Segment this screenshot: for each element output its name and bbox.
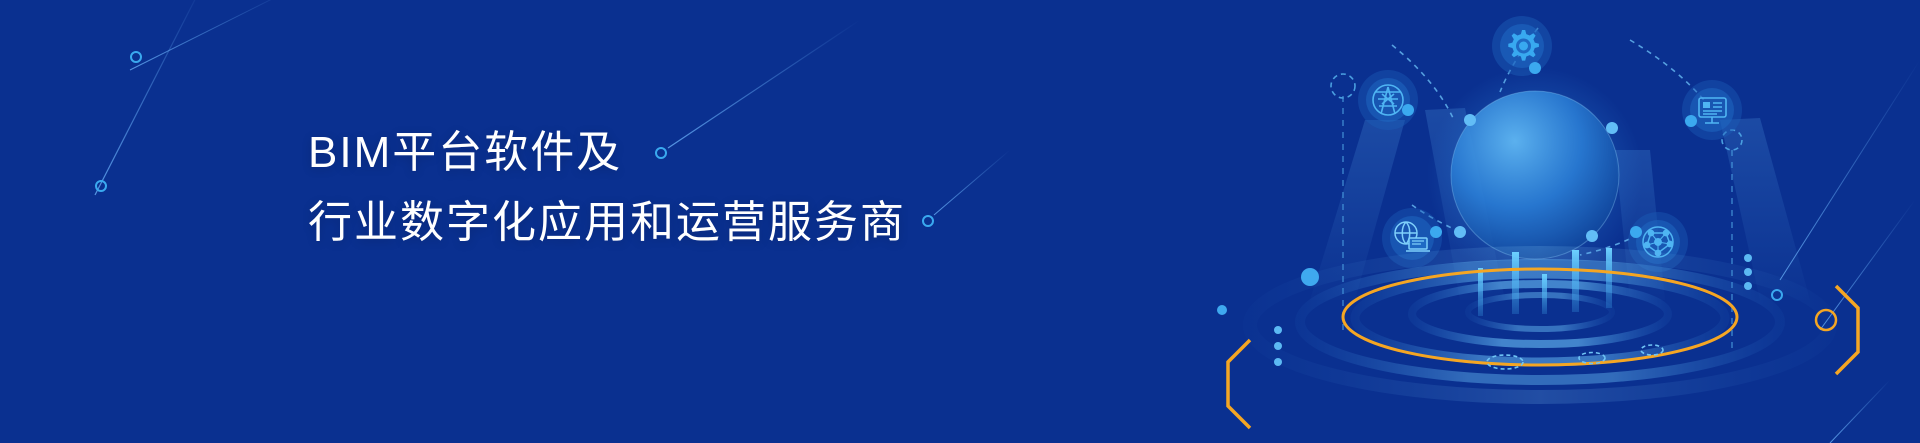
- guide-node-left: [1331, 74, 1355, 98]
- globe-laptop-icon-connector-dot: [1430, 226, 1442, 238]
- gear-icon: [1492, 16, 1552, 76]
- hero-headline: BIM平台软件及 行业数字化应用和运营服务商: [308, 118, 906, 258]
- gear-icon-glyph: [1508, 30, 1539, 61]
- data-bar-1: [1478, 268, 1483, 316]
- power-tower-icon: [1358, 70, 1418, 130]
- headline-line-2: 行业数字化应用和运营服务商: [308, 188, 906, 258]
- monitor-screen-icon: [1682, 80, 1742, 140]
- data-bar-4: [1572, 250, 1579, 312]
- floating-dot-1: [1301, 268, 1319, 286]
- sphere-node-2: [1606, 122, 1618, 134]
- floating-dot-2: [1217, 305, 1227, 315]
- hero-banner: BIM平台软件及 行业数字化应用和运营服务商: [0, 0, 1920, 443]
- platform-rings: [1250, 253, 1830, 397]
- monitor-screen-icon-bg: [1690, 88, 1734, 132]
- data-bar-5: [1606, 248, 1612, 308]
- corner-bracket-left: [1228, 340, 1250, 428]
- decor-diagonal-4: [934, 150, 1010, 215]
- data-bar-2: [1512, 252, 1519, 314]
- decor-diagonal-1: [95, 0, 205, 195]
- decor-circle-2: [131, 52, 141, 62]
- bim-illustration-svg: [1160, 0, 1920, 443]
- decor-circle-1: [96, 181, 106, 191]
- decor-diagonal-2: [130, 0, 290, 70]
- platform-ring-core: [1468, 295, 1612, 329]
- decor-circle-4: [923, 216, 933, 226]
- corner-bracket-right: [1836, 286, 1858, 374]
- sphere-node-4: [1586, 230, 1598, 242]
- data-bar-3: [1542, 274, 1547, 314]
- side-dots-left: [1274, 326, 1282, 366]
- gear-icon-connector-dot: [1529, 62, 1541, 74]
- power-tower-icon-connector-dot: [1402, 104, 1414, 116]
- side-dots-right: [1744, 254, 1752, 290]
- sphere-node-3: [1454, 226, 1466, 238]
- monitor-screen-icon-connector-dot: [1685, 115, 1697, 127]
- network-nodes-icon-connector-dot: [1630, 226, 1642, 238]
- headline-line-1: BIM平台软件及: [308, 118, 906, 188]
- bim-illustration: BIM: [1160, 0, 1920, 443]
- sphere-node-1: [1464, 114, 1476, 126]
